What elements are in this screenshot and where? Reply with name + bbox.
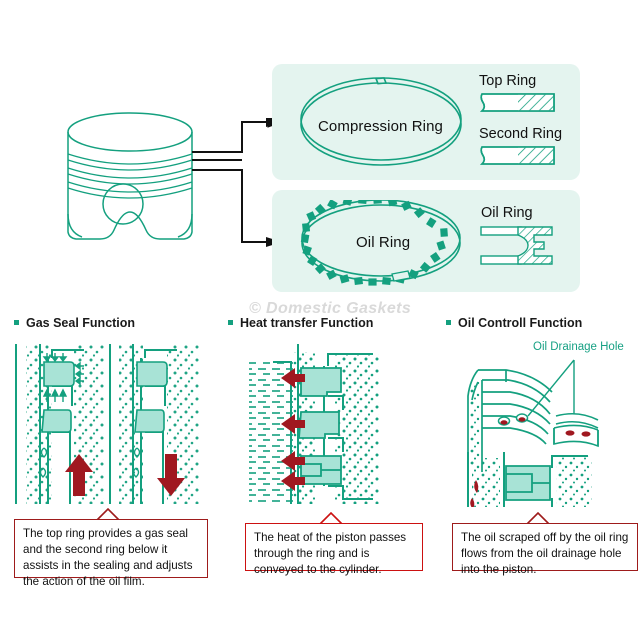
bullet-icon	[14, 320, 19, 325]
top-ring-label: Top Ring	[479, 73, 536, 89]
second-ring-cross-section	[478, 145, 558, 167]
section-header-heat-transfer: Heat transfer Function	[228, 316, 373, 330]
section-header-gas-seal: Gas Seal Function	[14, 316, 135, 330]
caption-heat-transfer: The heat of the piston passes through th…	[245, 523, 423, 571]
diagram-root: Compression Ring Top Ring Second Ring	[0, 0, 640, 640]
oil-ring-label: Oil Ring	[356, 234, 410, 251]
section-title-oil-control: Oil Controll Function	[458, 316, 582, 330]
section-header-oil-control: Oil Controll Function	[446, 316, 582, 330]
bullet-icon	[446, 320, 451, 325]
heat-transfer-illustration	[243, 344, 419, 506]
section-title-heat-transfer: Heat transfer Function	[240, 316, 373, 330]
oil-control-illustration	[448, 352, 640, 507]
oil-ring-cross-section-label: Oil Ring	[481, 205, 533, 221]
caption-gas-seal: The top ring provides a gas seal and the…	[14, 519, 208, 578]
top-ring-cross-section	[478, 92, 558, 114]
section-title-gas-seal: Gas Seal Function	[26, 316, 135, 330]
oil-ring-cross-section	[478, 224, 558, 268]
caption-oil-control: The oil scraped off by the oil ring flow…	[452, 523, 638, 571]
compression-ring-label: Compression Ring	[318, 118, 443, 135]
gas-seal-illustration	[12, 344, 208, 506]
second-ring-label: Second Ring	[479, 126, 562, 142]
bullet-icon	[228, 320, 233, 325]
